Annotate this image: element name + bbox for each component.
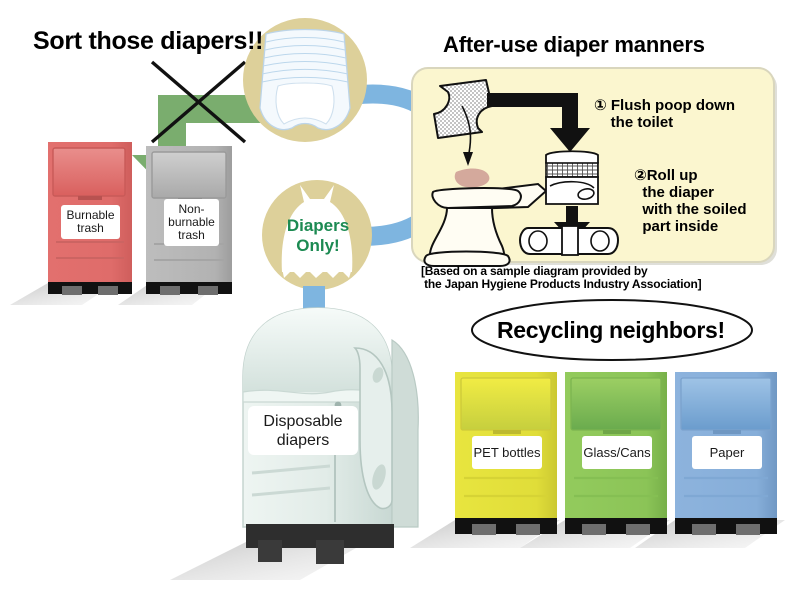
poop-icon <box>455 169 490 188</box>
poster-graphics <box>0 0 800 600</box>
recycling-callout-label: Recycling neighbors! <box>497 317 725 344</box>
panel-step-2: ②Roll up the diaper with the soiled part… <box>634 167 747 235</box>
label-pet-bottles: PET bottles <box>472 436 542 469</box>
label-glass-cans: Glass/Cans <box>582 436 652 469</box>
poster-canvas: Sort those diapers!! After-use diaper ma… <box>0 0 800 600</box>
label-disposable-diapers: Disposable diapers <box>248 406 358 455</box>
bag-label: Diapers Only! <box>275 216 361 256</box>
rolled-diaper-icon <box>546 151 598 204</box>
page-title: Sort those diapers!! <box>33 27 263 56</box>
panel-step-1: ① Flush poop down the toilet <box>594 97 735 131</box>
label-non-burnable-trash: Non- burnable trash <box>164 199 219 246</box>
label-burnable-trash: Burnable trash <box>61 205 120 239</box>
final-roll-icon <box>520 226 618 255</box>
panel-credit: [Based on a sample diagram provided by t… <box>421 265 701 291</box>
panel-title: After-use diaper manners <box>443 32 705 58</box>
label-paper: Paper <box>692 436 762 469</box>
